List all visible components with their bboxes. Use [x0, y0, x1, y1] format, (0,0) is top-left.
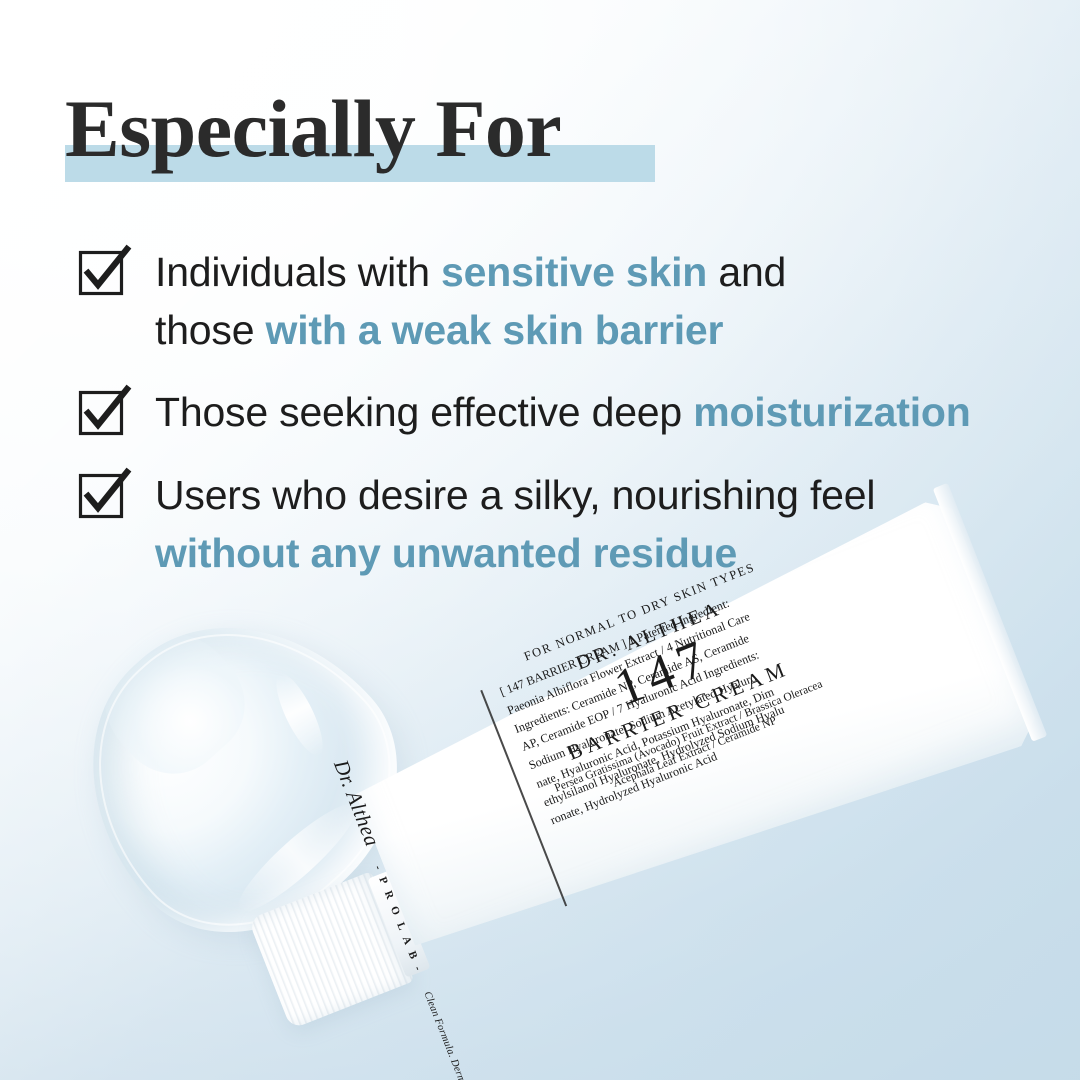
- item1-line1-post: and: [707, 249, 786, 295]
- brand-tagline: Clean Formula. Derma Inspired. Soul Libe…: [421, 990, 512, 1080]
- checkbox-checked-icon: [78, 387, 128, 437]
- item1-line1-highlight: sensitive skin: [441, 249, 707, 295]
- list-item: Individuals with sensitive skin and thos…: [78, 243, 1038, 359]
- page-title-block: Especially For: [65, 88, 561, 170]
- page-title: Especially For: [65, 88, 561, 170]
- checkbox-checked-icon: [78, 470, 128, 520]
- checkbox-checked-icon: [78, 247, 128, 297]
- item1-line2-highlight: with a weak skin barrier: [266, 307, 724, 353]
- brand-script-logo: Dr. Althea: [328, 756, 385, 850]
- item1-line1-pre: Individuals with: [155, 249, 441, 295]
- list-item-text: Individuals with sensitive skin and thos…: [155, 243, 1038, 359]
- item1-line2-pre: those: [155, 307, 266, 353]
- item2-line1-pre: Those seeking effective deep: [155, 389, 693, 435]
- promo-canvas: Especially For Individuals with sensitiv…: [0, 0, 1080, 1080]
